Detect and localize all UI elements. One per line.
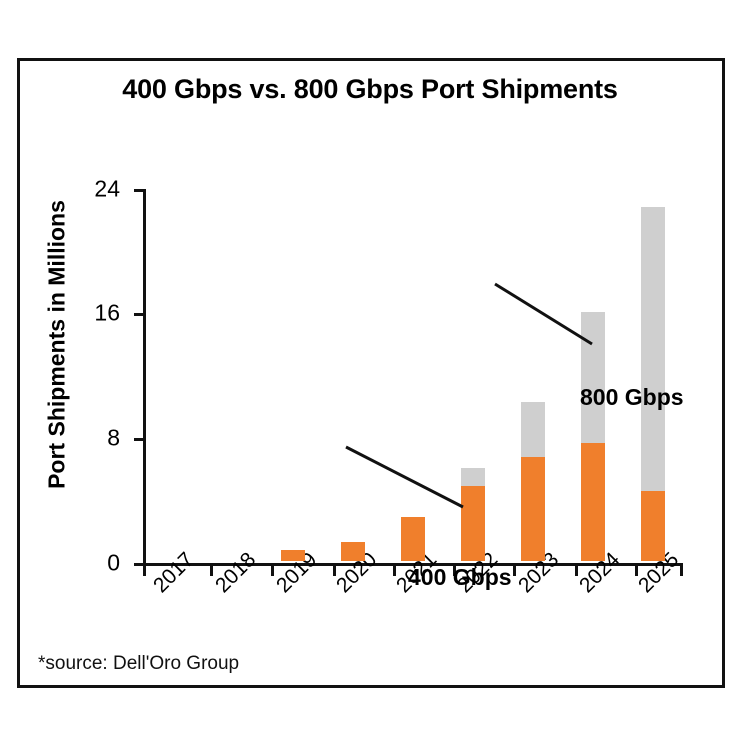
y-tick-16: 16 (134, 313, 143, 316)
bar-2024 (581, 312, 605, 561)
bar-segment-800-2022 (461, 468, 485, 487)
bar-segment-400-2024 (581, 443, 605, 561)
bar-2021 (401, 517, 425, 561)
x-tick-2 (271, 563, 274, 576)
x-axis-label-2017: 2017 (149, 548, 199, 598)
y-tick-label-24: 24 (94, 176, 120, 203)
chart-title: 400 Gbps vs. 800 Gbps Port Shipments (80, 73, 660, 106)
x-tick-7 (575, 563, 578, 576)
source-note: *source: Dell'Oro Group (38, 653, 239, 675)
annotation-400-gbps: 400 Gbps (408, 564, 512, 591)
bar-2020 (341, 542, 365, 561)
y-tick-label-0: 0 (107, 550, 120, 577)
x-tick-4 (393, 563, 396, 576)
x-axis-label-2018: 2018 (211, 548, 261, 598)
chart-screenshot: 400 Gbps vs. 800 Gbps Port Shipments Por… (0, 0, 745, 746)
x-tick-0 (143, 563, 146, 576)
bar-segment-400-2019 (281, 550, 305, 561)
plot-area: 24 16 8 0 2017 2018 201 (143, 189, 683, 563)
x-tick-8 (635, 563, 638, 576)
bar-2022 (461, 468, 485, 562)
x-tick-1 (210, 563, 213, 576)
y-tick-label-16: 16 (94, 300, 120, 327)
y-tick-label-8: 8 (107, 425, 120, 452)
bar-segment-800-2023 (521, 402, 545, 457)
bar-segment-400-2022 (461, 486, 485, 561)
y-tick-8: 8 (134, 438, 143, 441)
y-axis-line (143, 189, 146, 565)
bar-segment-400-2025 (641, 491, 665, 561)
annotation-800-gbps: 800 Gbps (580, 384, 684, 411)
y-tick-0: 0 (134, 563, 143, 566)
figure-frame: 400 Gbps vs. 800 Gbps Port Shipments Por… (17, 58, 725, 688)
bar-2023 (521, 402, 545, 561)
x-tick-3 (333, 563, 336, 576)
y-tick-24: 24 (134, 189, 143, 192)
bar-segment-400-2020 (341, 542, 365, 561)
x-tick-6 (513, 563, 516, 576)
bar-segment-800-2025 (641, 207, 665, 491)
bar-segment-400-2021 (401, 517, 425, 561)
bar-2019 (281, 550, 305, 561)
bar-segment-400-2023 (521, 457, 545, 561)
y-axis-title: Port Shipments in Millions (44, 180, 71, 510)
bar-segment-800-2024 (581, 312, 605, 443)
